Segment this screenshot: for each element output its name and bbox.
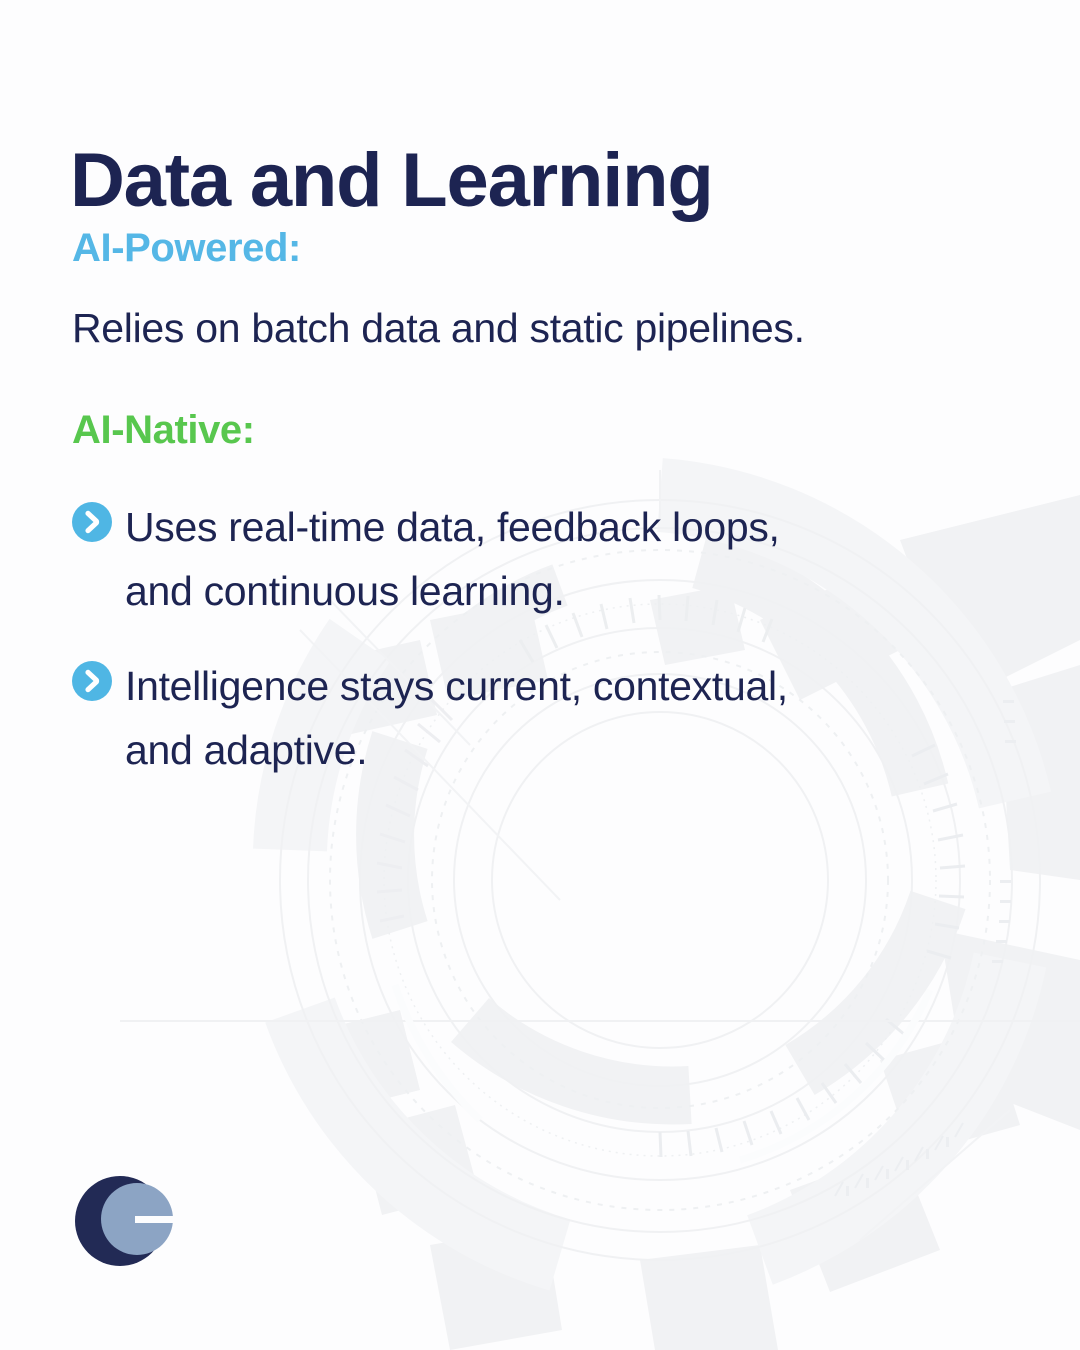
list-item-line: Intelligence stays current, contextual,: [125, 655, 1012, 719]
chevron-right-circle-icon: [72, 502, 112, 542]
brand-logo-mark: [74, 1175, 174, 1267]
list-item-text: Intelligence stays current, contextual, …: [125, 655, 1012, 782]
slide-canvas: Data and Learning AI-Powered: Relies on …: [0, 0, 1080, 1350]
list-item: Intelligence stays current, contextual, …: [72, 655, 1012, 782]
list-item-line: Uses real-time data, feedback loops,: [125, 496, 1012, 560]
section-body-ai-powered: Relies on batch data and static pipeline…: [72, 308, 805, 349]
page-title: Data and Learning: [70, 143, 713, 219]
list-item-text: Uses real-time data, feedback loops, and…: [125, 496, 1012, 623]
list-item-line: and continuous learning.: [125, 560, 1012, 624]
list-item-line: and adaptive.: [125, 719, 1012, 783]
list-item: Uses real-time data, feedback loops, and…: [72, 496, 1012, 623]
section-heading-ai-powered: AI-Powered:: [72, 228, 301, 268]
chevron-right-circle-icon: [72, 661, 112, 701]
section-heading-ai-native: AI-Native:: [72, 410, 255, 450]
